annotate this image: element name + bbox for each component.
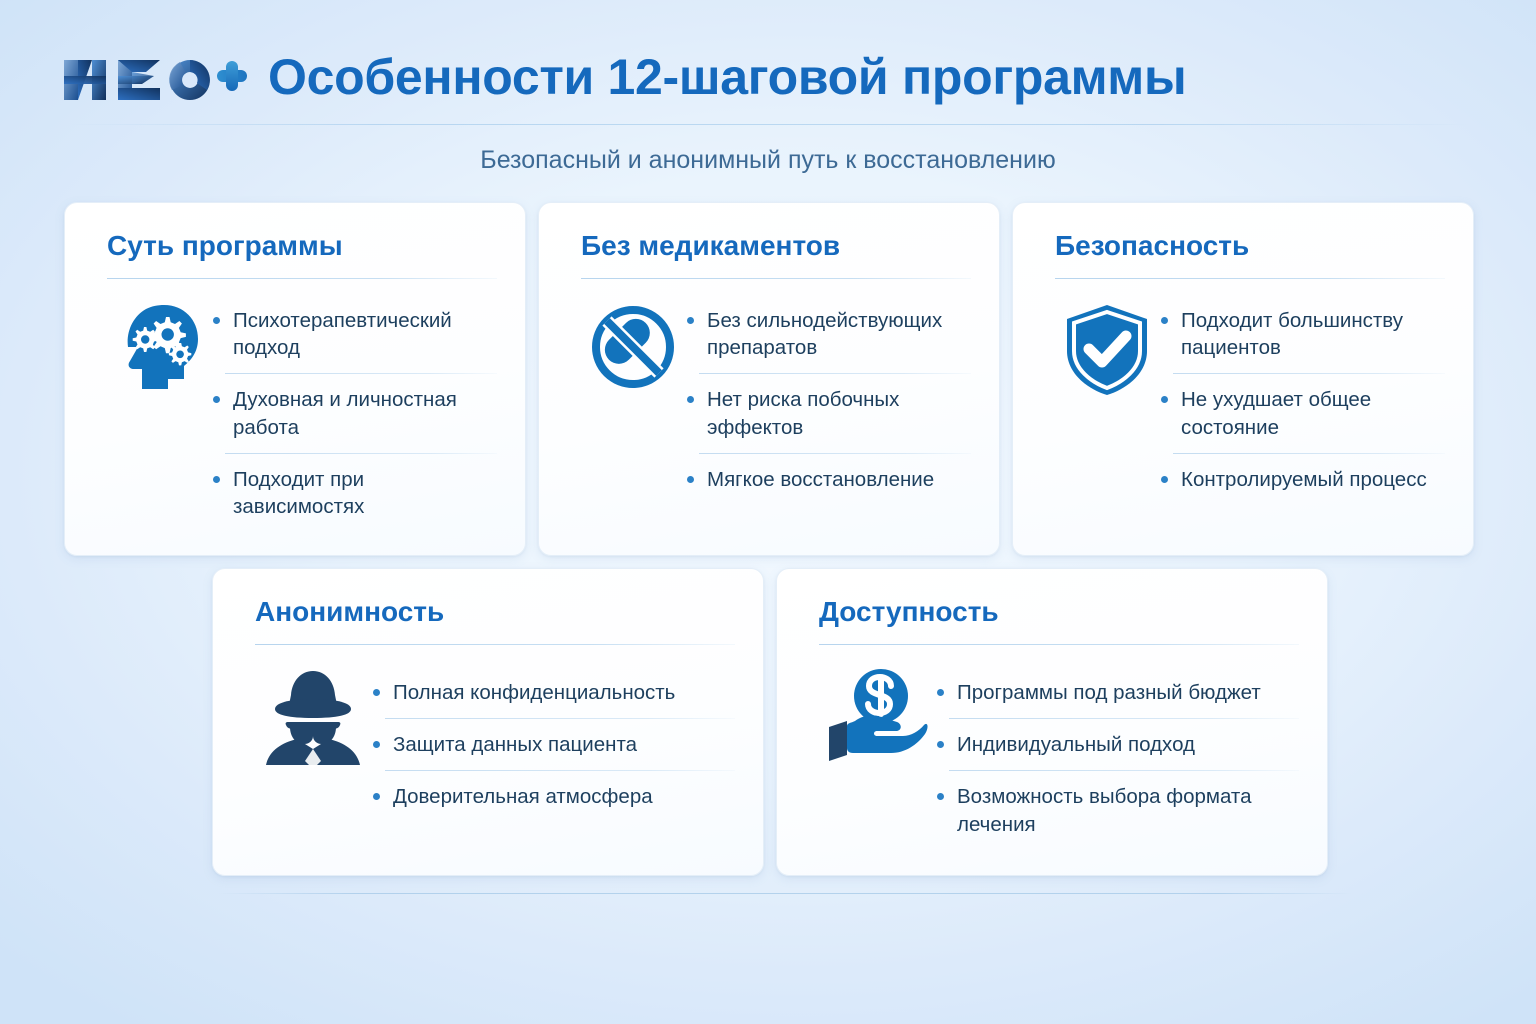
bullet-dot-icon (937, 741, 944, 748)
header-divider (70, 124, 1470, 125)
bullet-text: Нет риска побочных эффектов (707, 388, 899, 438)
bullet-dot-icon (687, 317, 694, 324)
card-title: Без медикаментов (581, 231, 971, 262)
bullet-dot-icon (687, 476, 694, 483)
bullet-text: Без сильнодействующих препаратов (707, 309, 942, 359)
bullet-text: Индивидуальный подход (957, 733, 1195, 756)
card-title: Суть программы (107, 231, 497, 262)
bullet-separator (225, 453, 497, 454)
list-item: Подходит при зависимостях (211, 466, 497, 521)
card-sut-programmy[interactable]: Суть программы (64, 202, 526, 556)
list-item: Не ухудшает общее состояние (1159, 386, 1445, 441)
list-item: Мягкое восстановление (685, 466, 971, 493)
bullet-dot-icon (213, 476, 220, 483)
card-title: Безопасность (1055, 231, 1445, 262)
card-dostupnost[interactable]: Доступность Программы под разный бюджет (776, 568, 1328, 876)
bullet-dot-icon (687, 396, 694, 403)
bullet-dot-icon (213, 317, 220, 324)
bullet-list: Подходит большинству пациентов Не ухудша… (1159, 299, 1445, 493)
list-item: Психотерапевтический подход (211, 307, 497, 362)
bullet-text: Психотерапевтический подход (233, 309, 452, 359)
bullet-dot-icon (937, 689, 944, 696)
bullet-separator (1173, 373, 1445, 374)
bullet-text: Духовная и личностная работа (233, 388, 457, 438)
card-anonimnost[interactable]: Анонимность (212, 568, 764, 876)
bullet-text: Доверительная атмосфера (393, 785, 653, 808)
head-with-gears-icon (107, 299, 211, 395)
bullet-separator (1173, 453, 1445, 454)
card-bez-medikamentov[interactable]: Без медикаментов Без сильно (538, 202, 1000, 556)
list-item: Программы под разный бюджет (935, 679, 1299, 706)
list-item: Возможность выбора формата лечения (935, 783, 1299, 838)
bullet-dot-icon (373, 689, 380, 696)
bullet-text: Не ухудшает общее состояние (1181, 388, 1371, 438)
bullet-list: Без сильнодействующих препаратов Нет рис… (685, 299, 971, 493)
bullet-dot-icon (213, 396, 220, 403)
bullet-separator (949, 770, 1299, 771)
cards-row-bottom: Анонимность (212, 568, 1328, 876)
list-item: Доверительная атмосфера (371, 783, 735, 810)
page-subtitle: Безопасный и анонимный путь к восстановл… (0, 146, 1536, 175)
list-item: Полная конфиденциальность (371, 679, 735, 706)
bullet-list: Психотерапевтический подход Духовная и л… (211, 299, 497, 521)
bullet-text: Подходит большинству пациентов (1181, 309, 1403, 359)
bullet-dot-icon (373, 793, 380, 800)
list-item: Духовная и личностная работа (211, 386, 497, 441)
list-item: Нет риска побочных эффектов (685, 386, 971, 441)
card-title: Анонимность (255, 597, 735, 628)
bullet-dot-icon (1161, 396, 1168, 403)
card-bezopasnost[interactable]: Безопасность Подходит большинству пациен… (1012, 202, 1474, 556)
bullet-text: Мягкое восстановление (707, 468, 934, 491)
bullet-text: Возможность выбора формата лечения (957, 785, 1252, 835)
bottom-divider (218, 893, 1353, 894)
cards-row-top: Суть программы (64, 202, 1476, 556)
bullet-separator (699, 453, 971, 454)
bullet-text: Программы под разный бюджет (957, 681, 1261, 704)
list-item: Защита данных пациента (371, 731, 735, 758)
incognito-spy-icon (255, 665, 371, 769)
neo-plus-logo (62, 54, 247, 106)
bullet-dot-icon (373, 741, 380, 748)
bullet-separator (385, 770, 735, 771)
no-pills-icon (581, 299, 685, 391)
list-item: Подходит большинству пациентов (1159, 307, 1445, 362)
bullet-list: Полная конфиденциальность Защита данных … (371, 665, 735, 811)
page-header: Особенности 12-шаговой программы (0, 0, 1536, 128)
shield-check-icon (1055, 299, 1159, 397)
bullet-dot-icon (1161, 476, 1168, 483)
bullet-list: Программы под разный бюджет Индивидуальн… (935, 665, 1299, 838)
bullet-text: Контролируемый процесс (1181, 468, 1427, 491)
list-item: Контролируемый процесс (1159, 466, 1445, 493)
bullet-text: Подходит при зависимостях (233, 468, 364, 518)
bullet-dot-icon (937, 793, 944, 800)
bullet-separator (385, 718, 735, 719)
list-item: Без сильнодействующих препаратов (685, 307, 971, 362)
bullet-separator (949, 718, 1299, 719)
hand-holding-coin-icon (819, 665, 935, 763)
bullet-text: Полная конфиденциальность (393, 681, 675, 704)
bullet-separator (225, 373, 497, 374)
bullet-separator (699, 373, 971, 374)
list-item: Индивидуальный подход (935, 731, 1299, 758)
bullet-dot-icon (1161, 317, 1168, 324)
page-title: Особенности 12-шаговой программы (268, 48, 1186, 106)
bullet-text: Защита данных пациента (393, 733, 637, 756)
card-title: Доступность (819, 597, 1299, 628)
